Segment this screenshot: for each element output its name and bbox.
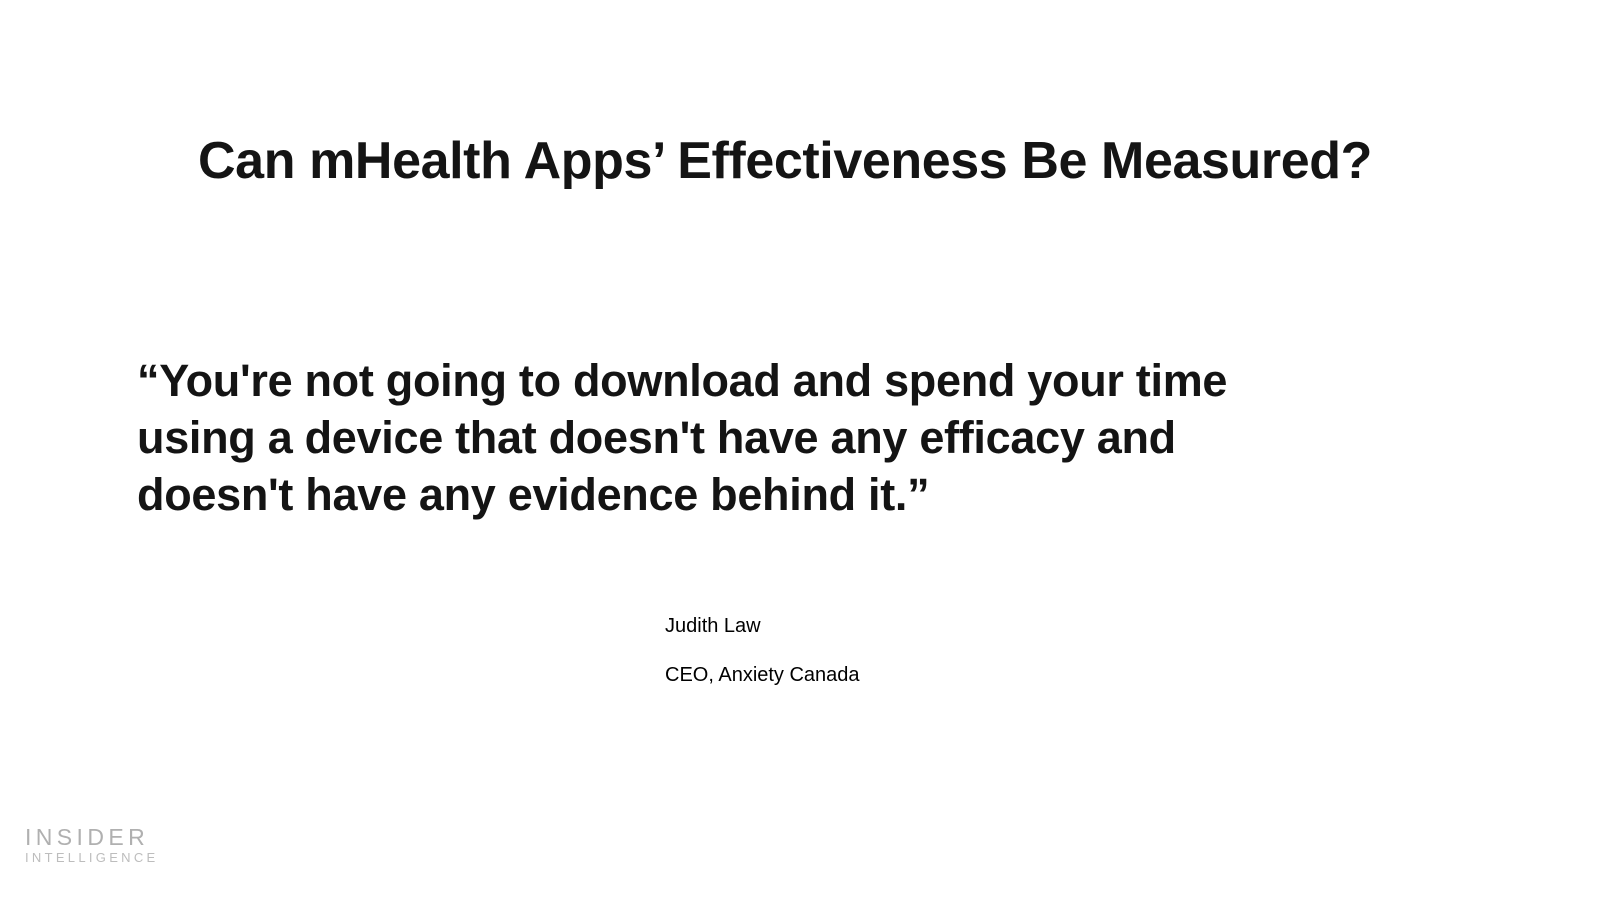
logo-primary-text: INSIDER (25, 824, 159, 850)
attribution-role: CEO, Anxiety Canada (665, 663, 1265, 687)
quote-attribution: Judith Law CEO, Anxiety Canada (665, 614, 1265, 687)
insider-intelligence-logo: INSIDER INTELLIGENCE (25, 824, 159, 866)
logo-secondary-text: INTELLIGENCE (25, 850, 159, 866)
slide-title: Can mHealth Apps’ Effectiveness Be Measu… (100, 131, 1470, 191)
attribution-name: Judith Law (665, 614, 1265, 638)
quote-line-2: using a device that doesn't have any eff… (137, 409, 1437, 466)
quote-line-3: doesn't have any evidence behind it.” (137, 466, 1437, 523)
quote-block: “You're not going to download and spend … (137, 352, 1437, 523)
slide-canvas: Can mHealth Apps’ Effectiveness Be Measu… (0, 0, 1600, 900)
quote-line-1: “You're not going to download and spend … (137, 352, 1437, 409)
